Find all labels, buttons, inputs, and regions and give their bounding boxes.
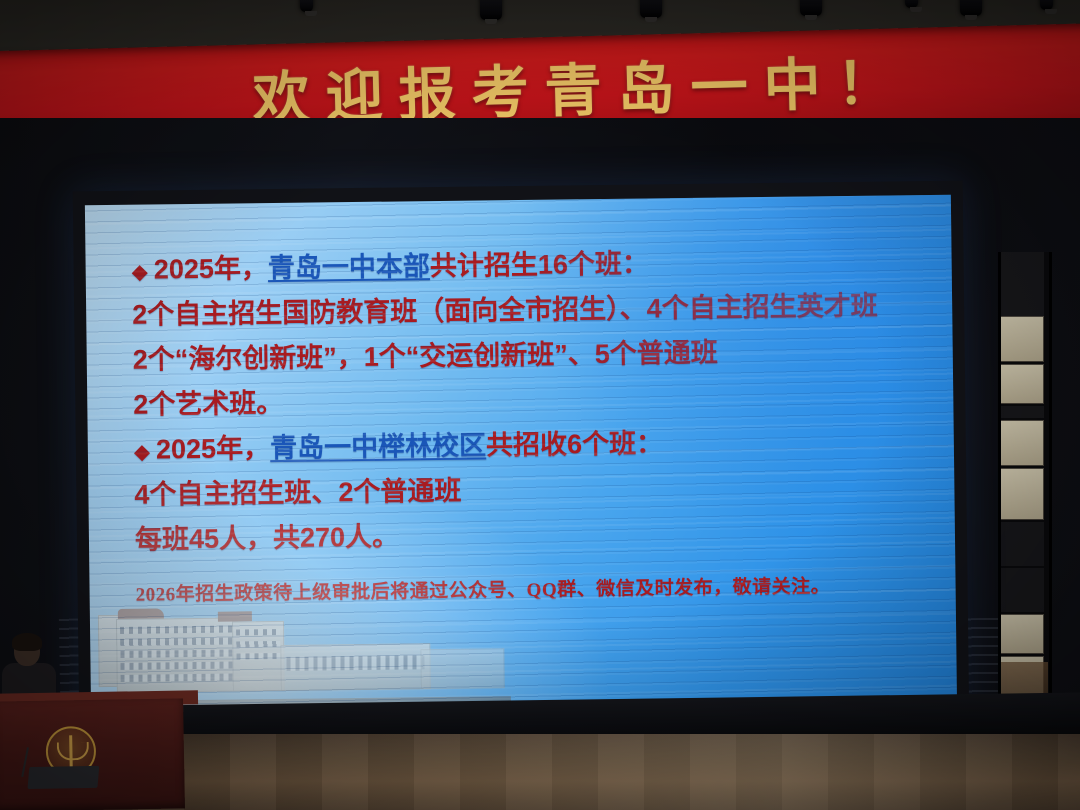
slide-segment: 2025年， (156, 433, 270, 464)
stage-light-icon (905, 0, 918, 8)
slide-segment: 2个“海尔创新班”，1个“交运创新班”、5个普通班 (133, 338, 718, 375)
exterior-pane (1000, 406, 1044, 418)
slide-line: 每班45人，共270人。 (135, 517, 935, 554)
slide-line: ◆2025年，青岛一中本部共计招生16个班： (132, 247, 932, 284)
door-frame-left (998, 252, 1001, 722)
stage-light-icon (960, 0, 982, 16)
slide-segment: 共招收6个班： (486, 428, 663, 460)
slide-line: 2个“海尔创新班”，1个“交运创新班”、5个普通班 (133, 337, 933, 374)
exterior-doorway (998, 252, 1052, 722)
stage-light-icon (300, 0, 313, 12)
laptop (27, 766, 99, 789)
slide-segment-highlight: 青岛一中榉林校区 (270, 430, 486, 463)
presentation-slide: ◆2025年，青岛一中本部共计招生16个班： 2个自主招生国防教育班（面向全市招… (85, 195, 957, 724)
slide-segment: 2025年， (154, 253, 268, 284)
exterior-pane (1000, 420, 1044, 466)
stage-light-icon (480, 0, 502, 20)
exterior-pane (1000, 522, 1044, 566)
diamond-bullet-icon: ◆ (132, 261, 148, 284)
diamond-bullet-icon: ◆ (134, 441, 150, 464)
slide-line: 2个艺术班。 (133, 382, 933, 419)
stage-light-icon (1040, 0, 1053, 10)
stage-light-icon (640, 0, 662, 18)
auditorium-photo: 欢迎报考青岛一中！ (0, 0, 1080, 810)
led-screen: ◆2025年，青岛一中本部共计招生16个班： 2个自主招生国防教育班（面向全市招… (73, 181, 970, 737)
slide-line: 2个自主招生国防教育班（面向全市招生）、4个自主招生英才班 (132, 292, 932, 329)
exterior-pane (1000, 614, 1044, 654)
exterior-pane (1000, 568, 1044, 612)
stage-light-icon (800, 0, 822, 16)
exterior-pane (1000, 468, 1044, 520)
slide-line: 4个自主招生班、2个普通班 (134, 472, 934, 509)
slide-segment: 2个自主招生国防教育班（面向全市招生）、4个自主招生英才班 (132, 291, 878, 330)
speaker-hair (12, 633, 42, 651)
slide-segment: 2个艺术班。 (133, 388, 283, 420)
exterior-pane (1000, 316, 1044, 362)
podium (0, 698, 185, 810)
slide-line: ◆2025年，青岛一中榉林校区共招收6个班： (134, 427, 934, 464)
slide-segment: 每班45人，共270人。 (135, 521, 399, 554)
slide-footnote: 2026年招生政策待上级审批后将通过公众号、QQ群、微信及时发布，敬请关注。 (135, 570, 935, 607)
slide-segment-highlight: 青岛一中本部 (268, 251, 430, 283)
slide-segment: 4个自主招生班、2个普通班 (134, 476, 461, 510)
slide-text-body: ◆2025年，青岛一中本部共计招生16个班： 2个自主招生国防教育班（面向全市招… (132, 247, 936, 607)
exterior-pane (1000, 252, 1044, 316)
slide-segment: 共计招生16个班： (430, 248, 649, 281)
exterior-pane (1000, 364, 1044, 404)
door-frame-right (1049, 252, 1052, 722)
